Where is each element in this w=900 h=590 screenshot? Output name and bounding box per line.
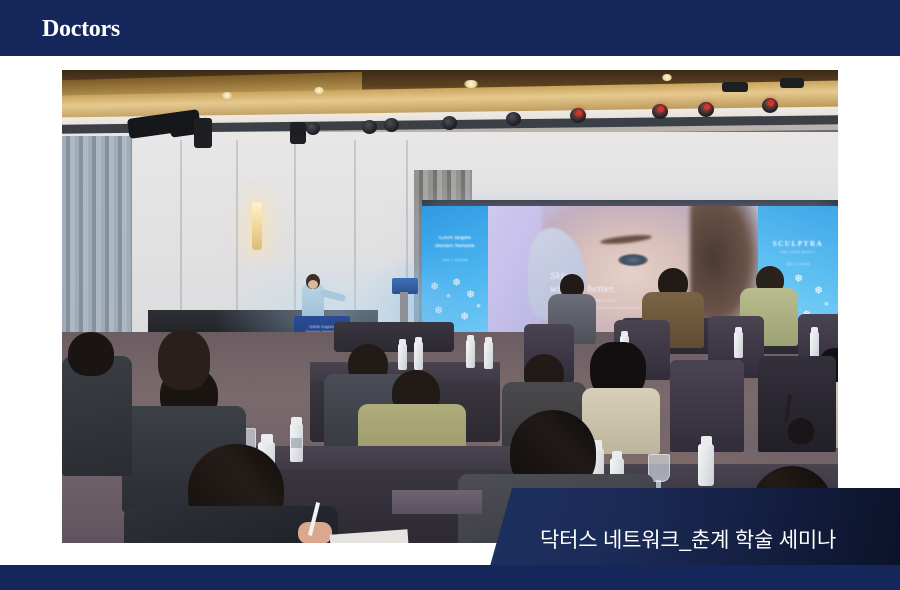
bottle-label	[291, 438, 302, 448]
water-bottle	[698, 444, 714, 486]
bottle-cap	[621, 331, 628, 337]
water-bottle	[414, 342, 423, 370]
screen-left-title-line1: GAIN Inspire	[422, 236, 488, 241]
bottle-cap	[261, 434, 273, 444]
ceiling-downlight	[222, 92, 232, 99]
bottle-cap	[415, 337, 422, 343]
caption-title: 닥터스 네트워크_춘계 학술 세미나	[540, 524, 836, 554]
spotlight-indicator	[768, 100, 774, 106]
truss-spotlight	[362, 120, 377, 134]
screen-right-tagline: THE SKIN BOOST	[758, 250, 838, 254]
side-curtain-left	[62, 136, 132, 336]
wall-sconce-light	[252, 202, 262, 250]
truss-spotlight	[506, 112, 521, 126]
snowflake-icon: ❅	[814, 286, 823, 297]
page-header: Doctors	[0, 0, 900, 56]
bottle-cap	[612, 451, 622, 459]
seminar-hall-photo: Skin, will get better. "SKIN, IS GETTING…	[62, 70, 838, 543]
ceiling-speaker	[290, 122, 306, 144]
table-edge-front	[392, 490, 482, 514]
bottle-cap	[735, 327, 742, 333]
presenter-face	[308, 280, 318, 289]
ceiling-speaker	[722, 82, 748, 92]
bottle-cap	[291, 417, 302, 425]
spotlight-indicator	[704, 104, 710, 110]
ceiling-downlight	[314, 87, 324, 94]
water-bottle	[810, 332, 819, 358]
bottle-cap	[811, 327, 818, 333]
handbag	[788, 418, 814, 444]
bottle-cap	[467, 335, 474, 341]
photo-bottom-gap	[0, 543, 500, 566]
water-bottle	[466, 340, 475, 368]
truss-spotlight	[306, 122, 320, 135]
screen-right-brand: SCULPTRA	[758, 240, 838, 248]
model-eye	[618, 254, 648, 266]
screen-left-title-line2: Doctors Network	[422, 244, 488, 249]
spotlight-indicator	[576, 110, 582, 116]
water-bottle	[484, 342, 493, 369]
wall-panel-seam	[180, 140, 182, 330]
brand-logo: Doctors	[42, 16, 120, 43]
page-footer	[0, 565, 900, 590]
ceiling-downlight	[464, 80, 478, 88]
attendee-hand	[298, 522, 332, 543]
snowflake-icon: ❅	[794, 274, 803, 285]
truss-spotlight	[442, 116, 457, 130]
snowflake-icon: ❅	[824, 302, 829, 308]
water-bottle	[398, 344, 407, 370]
attendee-hair-long	[158, 330, 210, 390]
ceiling-speaker	[780, 78, 804, 88]
truss-spotlight	[384, 118, 399, 132]
spotlight-indicator	[658, 106, 664, 112]
attendee-head-edge	[68, 332, 114, 376]
bottle-cap	[701, 436, 712, 446]
table-back-left	[334, 322, 454, 352]
ceiling-downlight	[662, 74, 672, 81]
slide-canvas: Doctors	[0, 0, 900, 590]
water-bottle	[734, 332, 743, 358]
ceiling-speaker	[194, 118, 212, 148]
bottle-cap	[399, 339, 406, 345]
bottle-cap	[485, 337, 492, 343]
